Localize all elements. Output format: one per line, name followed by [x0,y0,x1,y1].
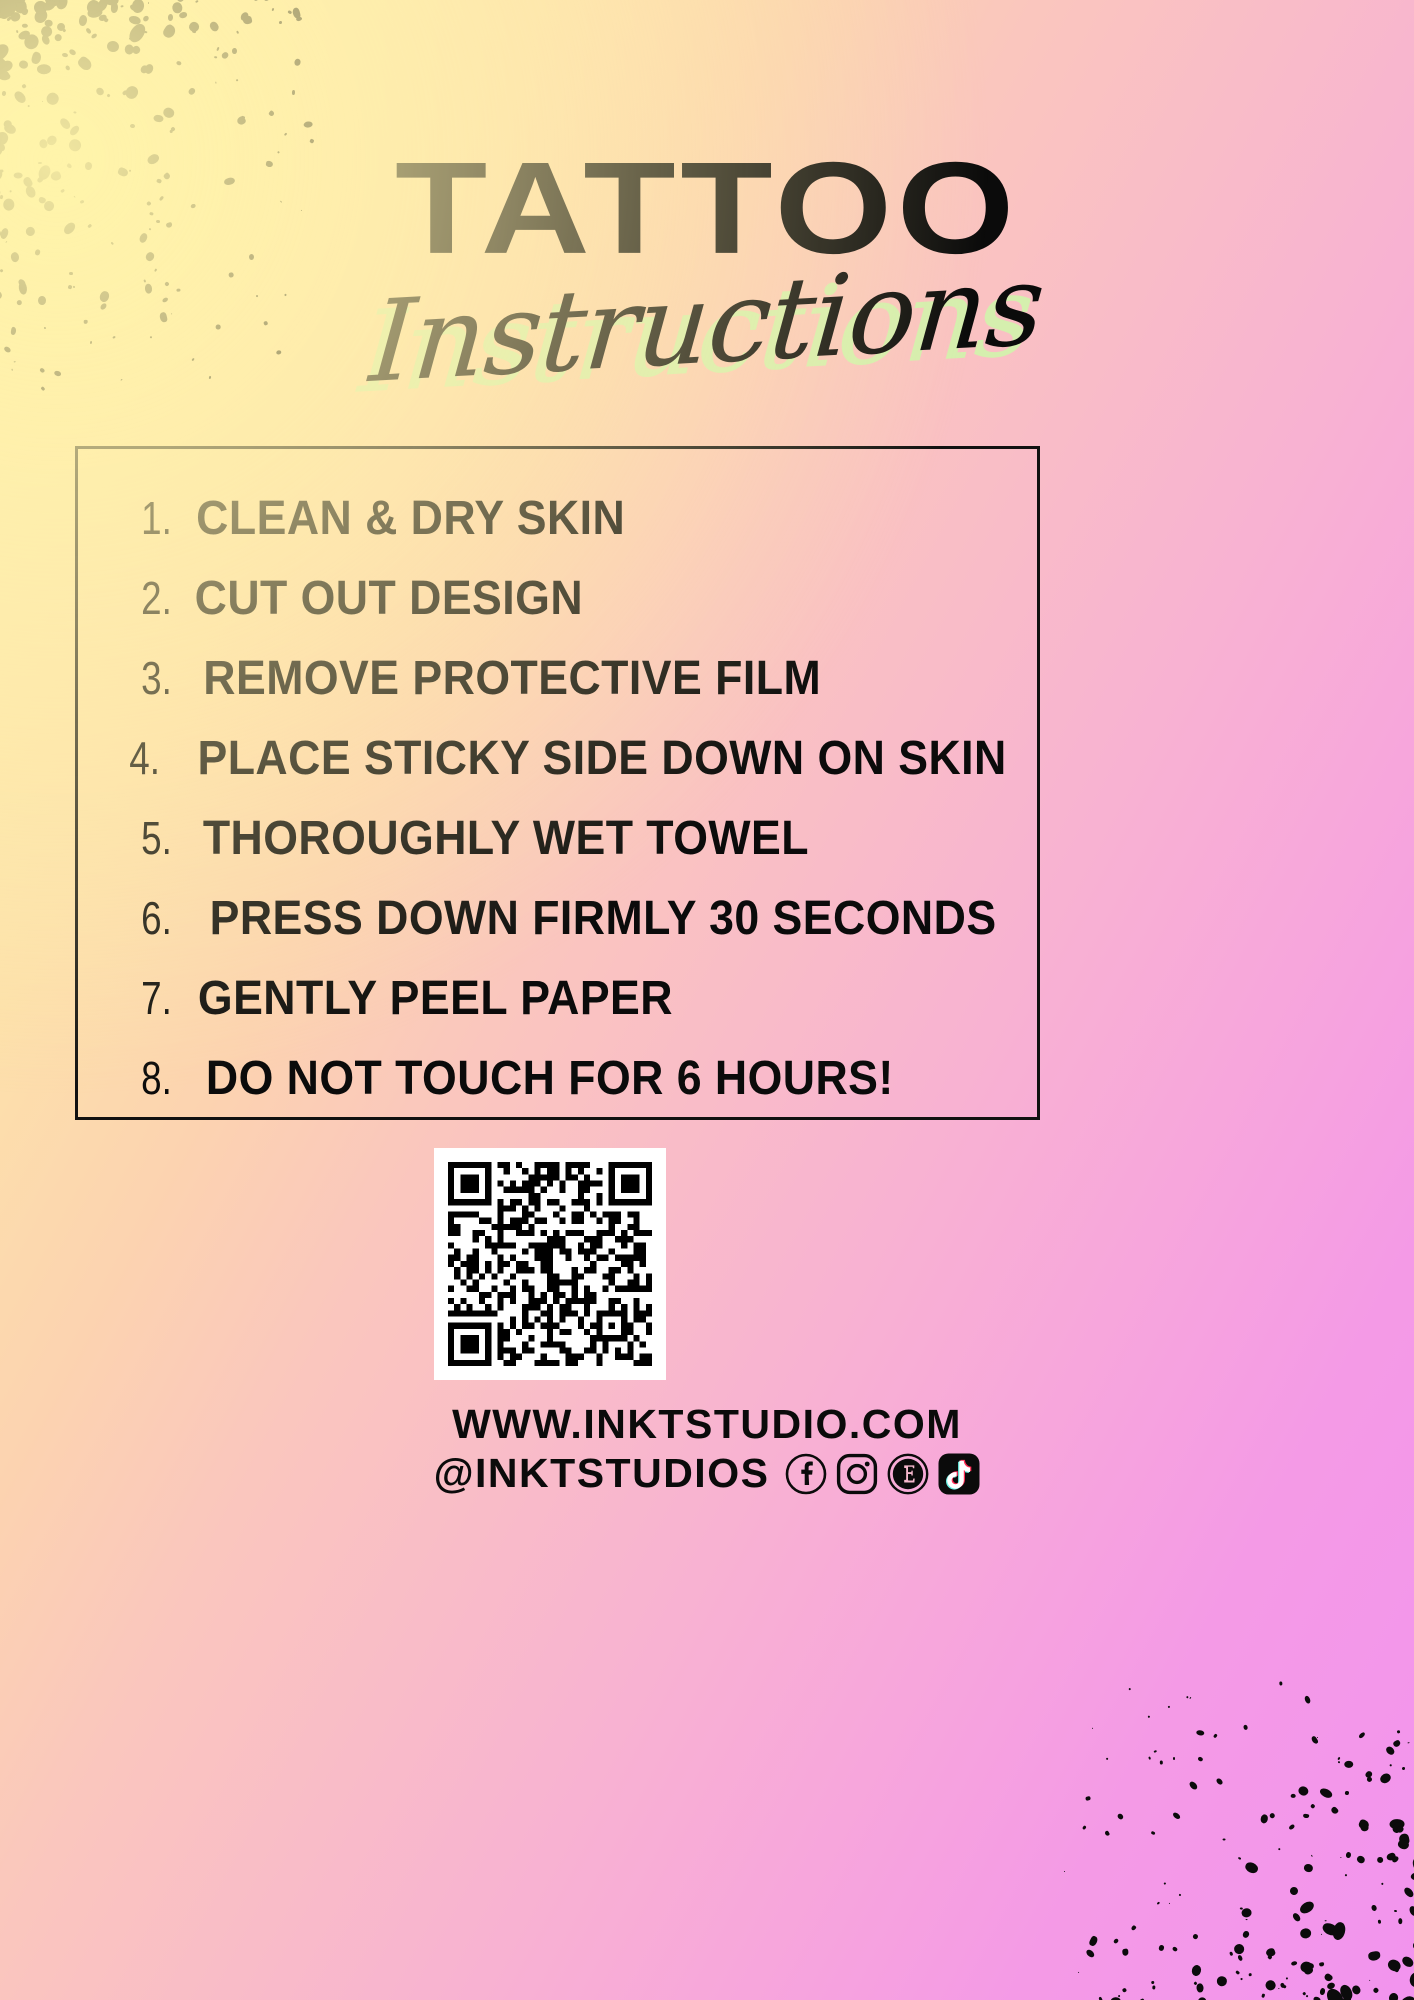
step-number: 3. [122,651,172,705]
social-icon-row [785,1453,980,1495]
list-item: 7. GENTLY PEEL PAPER [116,971,1037,1043]
step-label: PRESS DOWN FIRMLY 30 SECONDS [210,891,997,946]
step-label: THOROUGHLY WET TOWEL [203,811,809,866]
step-number: 1. [122,491,172,545]
tiktok-icon[interactable] [938,1453,980,1495]
step-number: 7. [122,971,172,1025]
poster-canvas: TATTOO Instructions Instructions 1. CLEA… [0,0,1414,2000]
step-number: 5. [122,811,172,865]
instagram-icon[interactable] [836,1453,878,1495]
list-item: 4. PLACE STICKY SIDE DOWN ON SKIN [116,731,1037,803]
etsy-icon[interactable] [887,1453,929,1495]
facebook-icon[interactable] [785,1453,827,1495]
step-label: CUT OUT DESIGN [195,571,583,626]
list-item: 1. CLEAN & DRY SKIN [116,491,1037,563]
step-label: CLEAN & DRY SKIN [196,491,625,546]
list-item: 6. PRESS DOWN FIRMLY 30 SECONDS [116,891,1037,963]
website-url[interactable]: WWW.INKTSTUDIO.COM [0,1400,1414,1448]
step-label: REMOVE PROTECTIVE FILM [203,651,821,706]
poster-footer: WWW.INKTSTUDIO.COM @INKTSTUDIOS [0,1400,1414,1497]
qr-code-image [448,1162,652,1366]
list-item: 8. DO NOT TOUCH FOR 6 HOURS! [116,1051,1037,1123]
step-label: GENTLY PEEL PAPER [198,971,673,1026]
step-number: 4. [121,731,160,785]
social-handle-row: @INKTSTUDIOS [0,1450,1414,1497]
ink-splatter-bottom-right [1064,1680,1414,2000]
step-label: DO NOT TOUCH FOR 6 HOURS! [206,1051,894,1106]
qr-code[interactable] [434,1148,666,1380]
step-number: 2. [122,571,172,625]
script-subtitle-wrap: Instructions Instructions [0,254,1414,404]
instructions-box: 1. CLEAN & DRY SKIN 2. CUT OUT DESIGN 3.… [75,446,1040,1120]
list-item: 3. REMOVE PROTECTIVE FILM [116,651,1037,723]
step-number: 8. [122,1051,172,1105]
list-item: 2. CUT OUT DESIGN [116,571,1037,643]
social-handle: @INKTSTUDIOS [434,1450,770,1497]
step-number: 6. [122,891,172,945]
poster-header: TATTOO Instructions Instructions [0,150,1414,404]
list-item: 5. THOROUGHLY WET TOWEL [116,811,1037,883]
step-label: PLACE STICKY SIDE DOWN ON SKIN [197,731,1006,786]
